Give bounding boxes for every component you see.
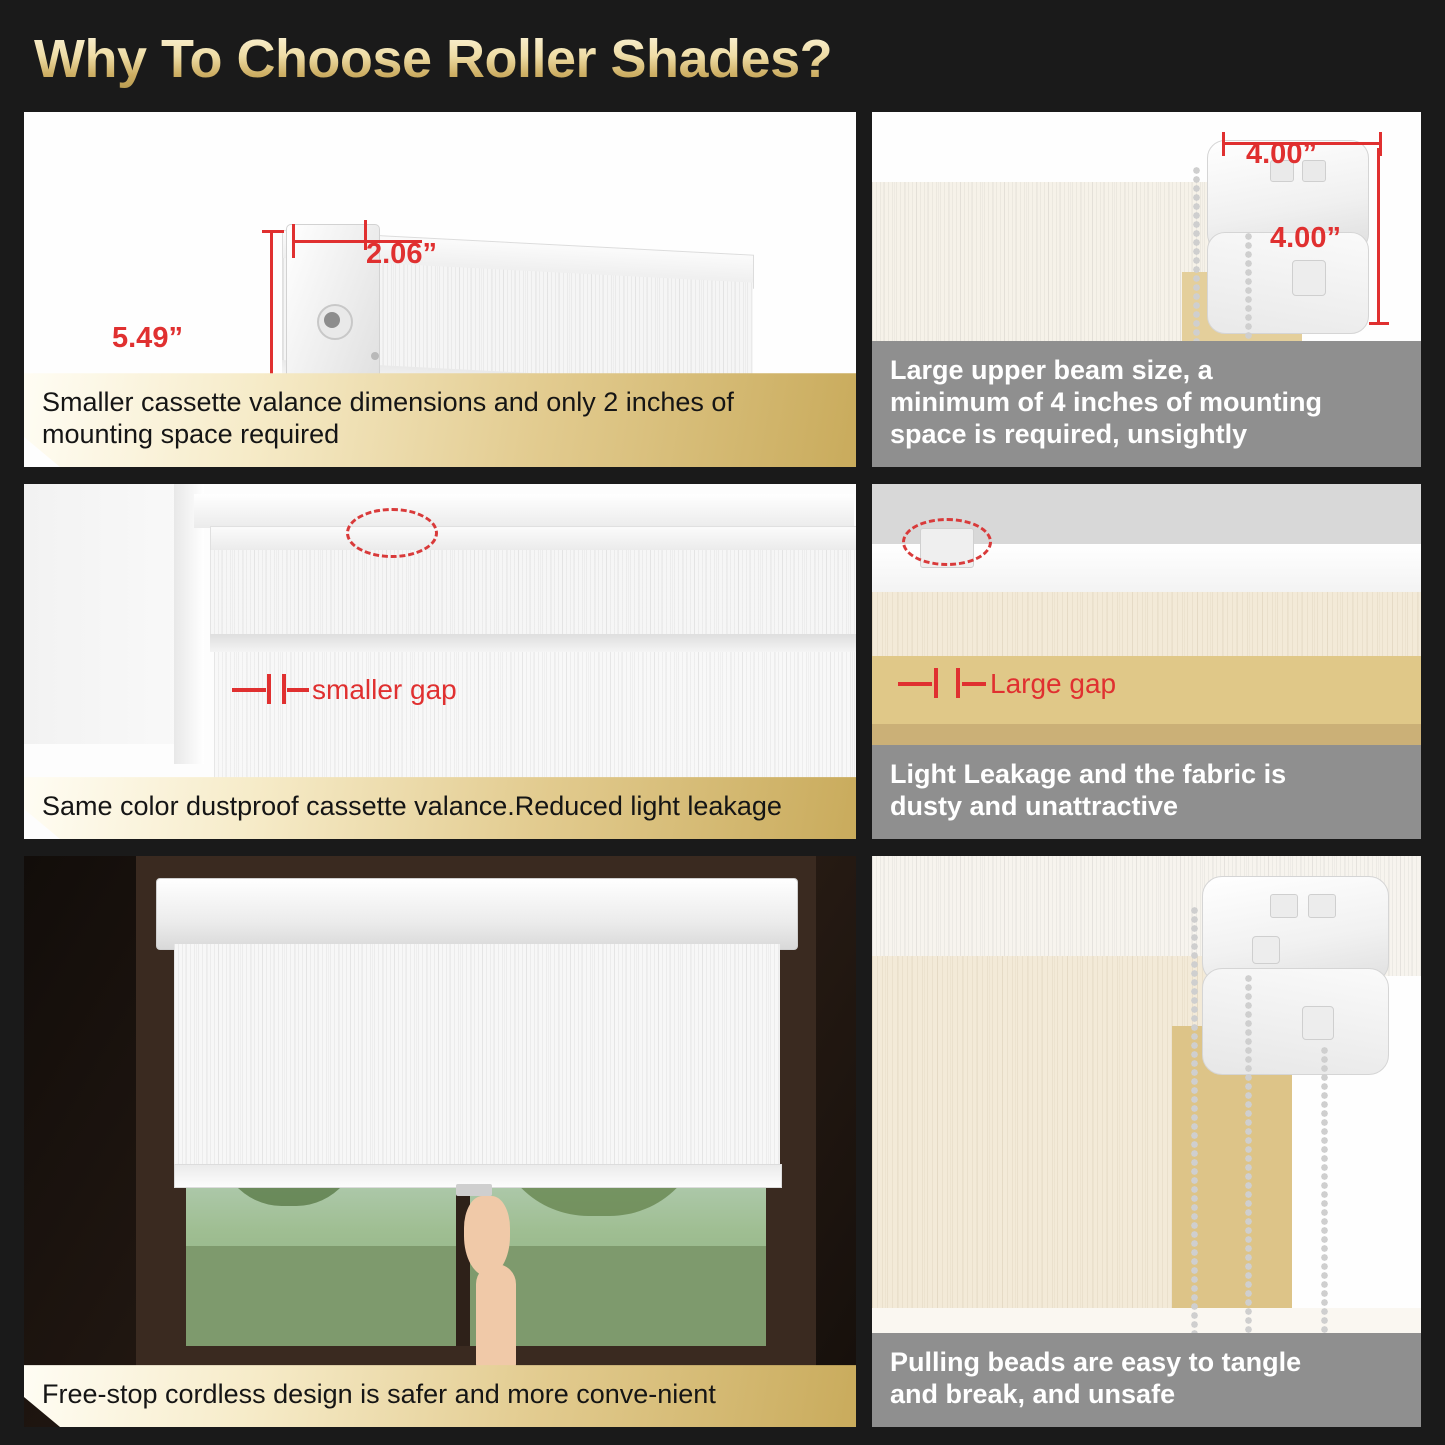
panel-6-caption-line-2: and break, and unsafe	[890, 1379, 1403, 1411]
panel-2-caption-line-2: minimum of 4 inches of mounting	[890, 387, 1403, 419]
bead-chain-middle	[1244, 974, 1253, 1354]
gap-label: Large gap	[990, 668, 1116, 700]
window-frame-top	[194, 494, 854, 528]
panel-1: 2.06” 5.49” Smaller cassette valance dim…	[24, 112, 856, 467]
roller-clip	[1292, 260, 1326, 296]
width-dim-tick-left	[292, 224, 295, 258]
panel-2-caption: Large upper beam size, a minimum of 4 in…	[872, 341, 1421, 467]
dimension-width-label: 4.00”	[1246, 138, 1317, 171]
shade-fabric	[174, 944, 780, 1174]
panel-2: 4.00” 4.00” Large upper beam size, a min…	[872, 112, 1421, 467]
panel-5-image: Free-stop cordless design is safer and m…	[24, 856, 856, 1427]
highlight-ellipse	[346, 508, 438, 558]
roller-head-top	[1202, 876, 1389, 983]
valance-bottom-lip	[210, 634, 856, 652]
panel-4-image: Large gap Light Leakage and the fabric i…	[872, 484, 1421, 839]
panel-1-image: 2.06” 5.49” Smaller cassette valance dim…	[24, 112, 856, 467]
panel-grid: 2.06” 5.49” Smaller cassette valance dim…	[24, 112, 1421, 1427]
panel-6-caption: Pulling beads are easy to tangle and bre…	[872, 1333, 1421, 1427]
height-dim-tick-top	[262, 230, 284, 233]
bead-chain-left	[1190, 906, 1199, 1346]
bracket-dot	[371, 352, 379, 360]
hand-icon	[464, 1196, 510, 1276]
shade-fabric-top	[872, 592, 1421, 662]
valance-fabric-face	[210, 550, 856, 636]
panel-6: Pulling beads are easy to tangle and bre…	[872, 856, 1421, 1427]
panel-1-caption-text: Smaller cassette valance dimensions and …	[42, 387, 734, 449]
panel-2-caption-line-3: space is required, unsightly	[890, 419, 1403, 451]
panel-4-caption-line-2: dusty and unattractive	[890, 791, 1403, 823]
panel-4-caption: Light Leakage and the fabric is dusty an…	[872, 745, 1421, 839]
gap-arrow-left	[232, 688, 266, 692]
dimension-height-label: 5.49”	[112, 322, 183, 355]
width-dim-tick-left	[1222, 132, 1225, 156]
height-dim-tick-bottom	[1369, 322, 1389, 325]
dimension-height-label: 4.00”	[1270, 222, 1341, 255]
panel-5-caption-text: Free-stop cordless design is safer and m…	[42, 1379, 716, 1409]
roller-slot-a	[1270, 894, 1298, 918]
panel-3-caption-text: Same color dustproof cassette valance.Re…	[42, 791, 782, 821]
bead-chain-right	[1320, 1046, 1329, 1346]
gap-tick-b	[282, 674, 286, 704]
dimension-width-label: 2.06”	[366, 238, 437, 271]
panel-5: Free-stop cordless design is safer and m…	[24, 856, 856, 1427]
bracket-pin	[324, 312, 340, 328]
panel-2-caption-line-1: Large upper beam size, a	[890, 355, 1403, 387]
panel-5-caption: Free-stop cordless design is safer and m…	[24, 1365, 856, 1427]
gap-arrow-left	[898, 682, 932, 686]
panel-3: smaller gap Same color dustproof cassett…	[24, 484, 856, 839]
highlight-ellipse	[902, 518, 992, 566]
panel-1-caption: Smaller cassette valance dimensions and …	[24, 373, 856, 467]
panel-3-image: smaller gap Same color dustproof cassett…	[24, 484, 856, 839]
panel-6-image: Pulling beads are easy to tangle and bre…	[872, 856, 1421, 1427]
panel-2-image: 4.00” 4.00” Large upper beam size, a min…	[872, 112, 1421, 467]
gap-arrow-right	[962, 682, 986, 686]
roller-clip-a	[1252, 936, 1280, 964]
bottom-rail-tab	[456, 1184, 492, 1196]
shade-fabric	[214, 652, 856, 782]
page-title: Why To Choose Roller Shades?	[34, 28, 832, 90]
panel-4-caption-line-1: Light Leakage and the fabric is	[890, 759, 1403, 791]
panel-4: Large gap Light Leakage and the fabric i…	[872, 484, 1421, 839]
gap-label: smaller gap	[312, 674, 457, 706]
roller-clip-b	[1302, 1006, 1334, 1040]
panel-3-caption: Same color dustproof cassette valance.Re…	[24, 777, 856, 839]
infographic-page: Why To Choose Roller Shades?	[0, 0, 1445, 1445]
cassette-valance	[156, 878, 798, 950]
gap-tick-b	[956, 668, 960, 698]
roller-head-bottom	[1202, 968, 1389, 1075]
shade-fabric-lower	[872, 656, 1421, 732]
roller-slot-b	[1308, 894, 1336, 918]
gap-tick-a	[934, 668, 938, 698]
height-dim-line	[1377, 148, 1380, 324]
gap-arrow-right	[287, 688, 309, 692]
gap-tick-a	[267, 674, 271, 704]
panel-6-caption-line-1: Pulling beads are easy to tangle	[890, 1347, 1403, 1379]
